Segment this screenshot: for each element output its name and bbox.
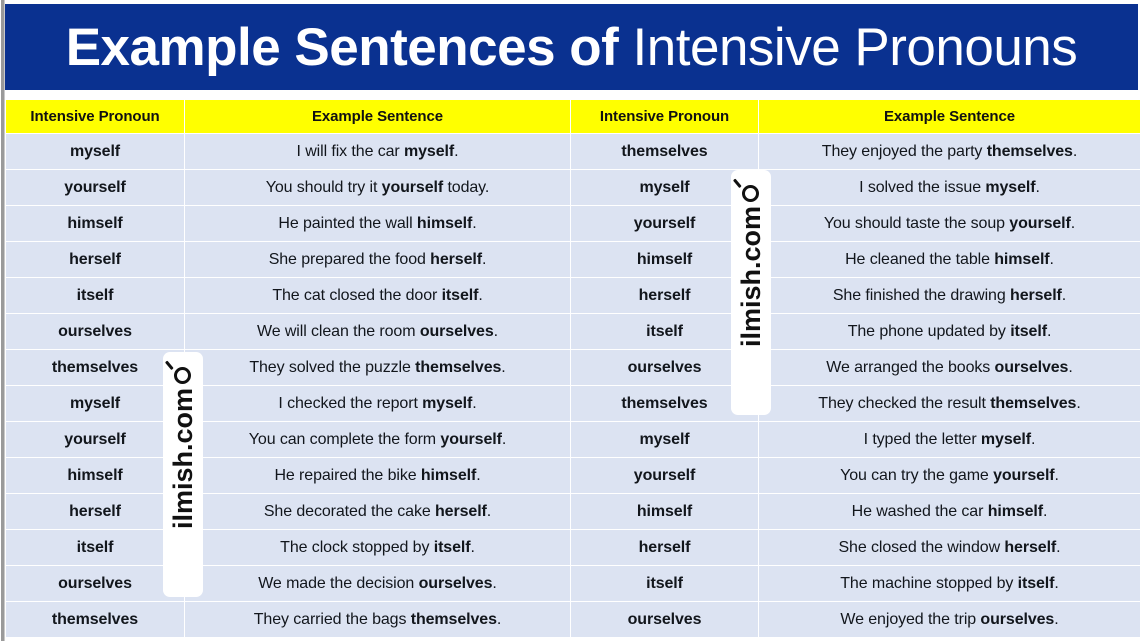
sentence-pronoun-emphasis: itself xyxy=(442,287,479,304)
sentence-tail: . xyxy=(1073,143,1077,160)
cell-sentence-left: The clock stopped by itself. xyxy=(185,530,571,566)
sentence-pronoun-emphasis: ourselves xyxy=(419,575,493,592)
cell-pronoun-left: herself xyxy=(6,242,185,278)
sentence-pronoun-emphasis: yourself xyxy=(440,431,501,448)
cell-sentence-left: I checked the report myself. xyxy=(185,386,571,422)
sentence-tail: . xyxy=(1056,539,1060,556)
sentence-tail: . xyxy=(478,287,482,304)
sentence-tail: . xyxy=(1068,359,1072,376)
watermark-logo-right: ilmish.com xyxy=(731,170,771,415)
cell-pronoun-left: itself xyxy=(6,530,185,566)
sentence-text: I solved the issue xyxy=(859,179,985,196)
sentence-text: He washed the car xyxy=(852,503,988,520)
sentence-text: You can try the game xyxy=(840,467,993,484)
magnifier-handle xyxy=(733,178,742,188)
sentence-text: You should taste the soup xyxy=(824,215,1009,232)
sentence-pronoun-emphasis: yourself xyxy=(382,179,443,196)
cell-sentence-right: They checked the result themselves. xyxy=(759,386,1140,422)
cell-pronoun-left: myself xyxy=(6,386,185,422)
cell-pronoun-right: herself xyxy=(571,530,759,566)
sentence-tail: . xyxy=(1050,251,1054,268)
sentence-text: The machine stopped by xyxy=(840,575,1017,592)
watermark-text-left: ilmish.com xyxy=(170,388,197,529)
sentence-tail: . xyxy=(470,539,474,556)
sentence-text: I checked the report xyxy=(278,395,422,412)
sentence-tail: . xyxy=(1035,179,1039,196)
sentence-tail: . xyxy=(494,323,498,340)
sentence-pronoun-emphasis: himself xyxy=(417,215,472,232)
cell-pronoun-left: yourself xyxy=(6,422,185,458)
sentence-text: They enjoyed the party xyxy=(822,143,987,160)
header-row: Intensive Pronoun Example Sentence Inten… xyxy=(6,100,1140,134)
cell-pronoun-right: yourself xyxy=(571,458,759,494)
sentence-pronoun-emphasis: himself xyxy=(421,467,476,484)
watermark-logo-left: ilmish.com xyxy=(163,352,203,597)
sentence-text: You can complete the form xyxy=(249,431,441,448)
cell-sentence-right: He cleaned the table himself. xyxy=(759,242,1140,278)
sentence-text: They solved the puzzle xyxy=(249,359,415,376)
table-row: herselfShe prepared the food herself.him… xyxy=(6,242,1140,278)
table-row: themselvesThey carried the bags themselv… xyxy=(6,602,1140,638)
sentence-pronoun-emphasis: herself xyxy=(1010,287,1062,304)
sentence-tail: . xyxy=(1062,287,1066,304)
sentence-text: We will clean the room xyxy=(257,323,420,340)
sentence-text: I will fix the car xyxy=(297,143,404,160)
cell-sentence-left: He painted the wall himself. xyxy=(185,206,571,242)
table-row: ourselvesWe will clean the room ourselve… xyxy=(6,314,1140,350)
sentence-pronoun-emphasis: themselves xyxy=(990,395,1076,412)
cell-pronoun-right: ourselves xyxy=(571,602,759,638)
sentence-tail: . xyxy=(1076,395,1080,412)
sentence-tail: . xyxy=(502,431,506,448)
magnifier-icon xyxy=(738,176,764,202)
cell-pronoun-left: myself xyxy=(6,134,185,170)
cell-sentence-right: She finished the drawing herself. xyxy=(759,278,1140,314)
sentence-tail: . xyxy=(1031,431,1035,448)
page-title-bold: Example Sentences of xyxy=(66,18,619,77)
sentence-pronoun-emphasis: themselves xyxy=(411,611,497,628)
cell-sentence-right: They enjoyed the party themselves. xyxy=(759,134,1140,170)
cell-sentence-left: We will clean the room ourselves. xyxy=(185,314,571,350)
sentence-pronoun-emphasis: itself xyxy=(434,539,471,556)
cell-pronoun-left: himself xyxy=(6,206,185,242)
sentence-text: She closed the window xyxy=(838,539,1004,556)
sentence-tail: . xyxy=(472,395,476,412)
sentence-pronoun-emphasis: myself xyxy=(981,431,1031,448)
table-row: itselfThe cat closed the door itself.her… xyxy=(6,278,1140,314)
sentence-pronoun-emphasis: themselves xyxy=(987,143,1073,160)
cell-sentence-right: She closed the window herself. xyxy=(759,530,1140,566)
cell-pronoun-left: themselves xyxy=(6,602,185,638)
sentence-pronoun-emphasis: itself xyxy=(1018,575,1055,592)
sentence-pronoun-emphasis: himself xyxy=(994,251,1049,268)
cell-sentence-left: They carried the bags themselves. xyxy=(185,602,571,638)
cell-pronoun-left: ourselves xyxy=(6,566,185,602)
page-root: Example Sentences of Intensive Pronouns … xyxy=(0,0,1140,641)
table-row: himselfHe painted the wall himself.yours… xyxy=(6,206,1140,242)
sentence-text: We arranged the books xyxy=(826,359,994,376)
cell-pronoun-left: himself xyxy=(6,458,185,494)
magnifier-icon xyxy=(170,358,196,384)
sentence-text: You should try it xyxy=(266,179,382,196)
sentence-text: They checked the result xyxy=(818,395,990,412)
sentence-text: We made the decision xyxy=(258,575,418,592)
cell-sentence-left: She decorated the cake herself. xyxy=(185,494,571,530)
sentence-tail: . xyxy=(497,611,501,628)
sentence-tail: . xyxy=(1043,503,1047,520)
cell-pronoun-right: myself xyxy=(571,422,759,458)
sentence-text: He cleaned the table xyxy=(845,251,994,268)
magnifier-ring xyxy=(742,185,759,202)
sentence-text: We enjoyed the trip xyxy=(840,611,980,628)
sentence-tail: . xyxy=(492,575,496,592)
column-header-pronoun-left: Intensive Pronoun xyxy=(6,100,185,134)
sentence-pronoun-emphasis: yourself xyxy=(993,467,1054,484)
cell-sentence-right: He washed the car himself. xyxy=(759,494,1140,530)
sentence-pronoun-emphasis: ourselves xyxy=(420,323,494,340)
cell-sentence-right: You can try the game yourself. xyxy=(759,458,1140,494)
cell-sentence-right: I typed the letter myself. xyxy=(759,422,1140,458)
cell-sentence-right: The phone updated by itself. xyxy=(759,314,1140,350)
sentence-pronoun-emphasis: herself xyxy=(435,503,487,520)
cell-sentence-left: He repaired the bike himself. xyxy=(185,458,571,494)
sentence-tail: . xyxy=(1054,611,1058,628)
magnifier-ring xyxy=(174,367,191,384)
sentence-text: She prepared the food xyxy=(269,251,430,268)
magnifier-handle xyxy=(165,360,174,370)
sentence-pronoun-emphasis: herself xyxy=(430,251,482,268)
cell-pronoun-left: yourself xyxy=(6,170,185,206)
sentence-tail: . xyxy=(1055,467,1059,484)
sentence-text: He painted the wall xyxy=(278,215,417,232)
sentence-tail: . xyxy=(476,467,480,484)
sentence-text: He repaired the bike xyxy=(274,467,420,484)
cell-pronoun-left: itself xyxy=(6,278,185,314)
cell-sentence-right: We arranged the books ourselves. xyxy=(759,350,1140,386)
cell-sentence-left: They solved the puzzle themselves. xyxy=(185,350,571,386)
sentence-tail: . xyxy=(1071,215,1075,232)
sentence-pronoun-emphasis: himself xyxy=(988,503,1043,520)
cell-sentence-left: The cat closed the door itself. xyxy=(185,278,571,314)
column-header-pronoun-right: Intensive Pronoun xyxy=(571,100,759,134)
cell-sentence-left: You can complete the form yourself. xyxy=(185,422,571,458)
cell-sentence-left: We made the decision ourselves. xyxy=(185,566,571,602)
cell-sentence-left: She prepared the food herself. xyxy=(185,242,571,278)
sentence-pronoun-emphasis: myself xyxy=(985,179,1035,196)
sentence-tail: . xyxy=(501,359,505,376)
sentence-tail: . xyxy=(482,251,486,268)
sentence-text: She finished the drawing xyxy=(833,287,1010,304)
cell-sentence-right: I solved the issue myself. xyxy=(759,170,1140,206)
cell-pronoun-left: ourselves xyxy=(6,314,185,350)
sentence-pronoun-emphasis: themselves xyxy=(415,359,501,376)
sentence-text: The phone updated by xyxy=(848,323,1010,340)
sentence-tail: . xyxy=(1054,575,1058,592)
sentence-pronoun-emphasis: yourself xyxy=(1009,215,1070,232)
sentence-pronoun-emphasis: ourselves xyxy=(980,611,1054,628)
sentence-pronoun-emphasis: ourselves xyxy=(995,359,1069,376)
cell-sentence-right: We enjoyed the trip ourselves. xyxy=(759,602,1140,638)
cell-pronoun-right: itself xyxy=(571,566,759,602)
cell-sentence-right: You should taste the soup yourself. xyxy=(759,206,1140,242)
sentence-tail: today. xyxy=(443,179,489,196)
cell-pronoun-right: himself xyxy=(571,494,759,530)
cell-sentence-left: You should try it yourself today. xyxy=(185,170,571,206)
sentence-text: The clock stopped by xyxy=(280,539,434,556)
column-header-sentence-right: Example Sentence xyxy=(759,100,1140,134)
sentence-tail: . xyxy=(487,503,491,520)
sentence-tail: . xyxy=(1047,323,1051,340)
sentence-pronoun-emphasis: herself xyxy=(1004,539,1056,556)
column-header-sentence-left: Example Sentence xyxy=(185,100,571,134)
sentence-text: The cat closed the door xyxy=(272,287,441,304)
cell-sentence-right: The machine stopped by itself. xyxy=(759,566,1140,602)
cell-sentence-left: I will fix the car myself. xyxy=(185,134,571,170)
cell-pronoun-right: themselves xyxy=(571,134,759,170)
table-row: myselfI will fix the car myself.themselv… xyxy=(6,134,1140,170)
sentence-text: They carried the bags xyxy=(254,611,411,628)
sentence-tail: . xyxy=(454,143,458,160)
page-title-light: Intensive Pronouns xyxy=(618,18,1077,77)
sentence-pronoun-emphasis: myself xyxy=(404,143,454,160)
cell-pronoun-left: themselves xyxy=(6,350,185,386)
cell-pronoun-left: herself xyxy=(6,494,185,530)
table-header: Intensive Pronoun Example Sentence Inten… xyxy=(6,100,1140,134)
sentence-pronoun-emphasis: itself xyxy=(1010,323,1047,340)
sentence-text: She decorated the cake xyxy=(264,503,435,520)
sentence-tail: . xyxy=(472,215,476,232)
page-title: Example Sentences of Intensive Pronouns xyxy=(66,21,1078,74)
sentence-text: I typed the letter xyxy=(864,431,981,448)
table-row: yourselfYou should try it yourself today… xyxy=(6,170,1140,206)
sentence-pronoun-emphasis: myself xyxy=(422,395,472,412)
title-banner: Example Sentences of Intensive Pronouns xyxy=(5,4,1138,90)
watermark-text-right: ilmish.com xyxy=(738,206,765,347)
